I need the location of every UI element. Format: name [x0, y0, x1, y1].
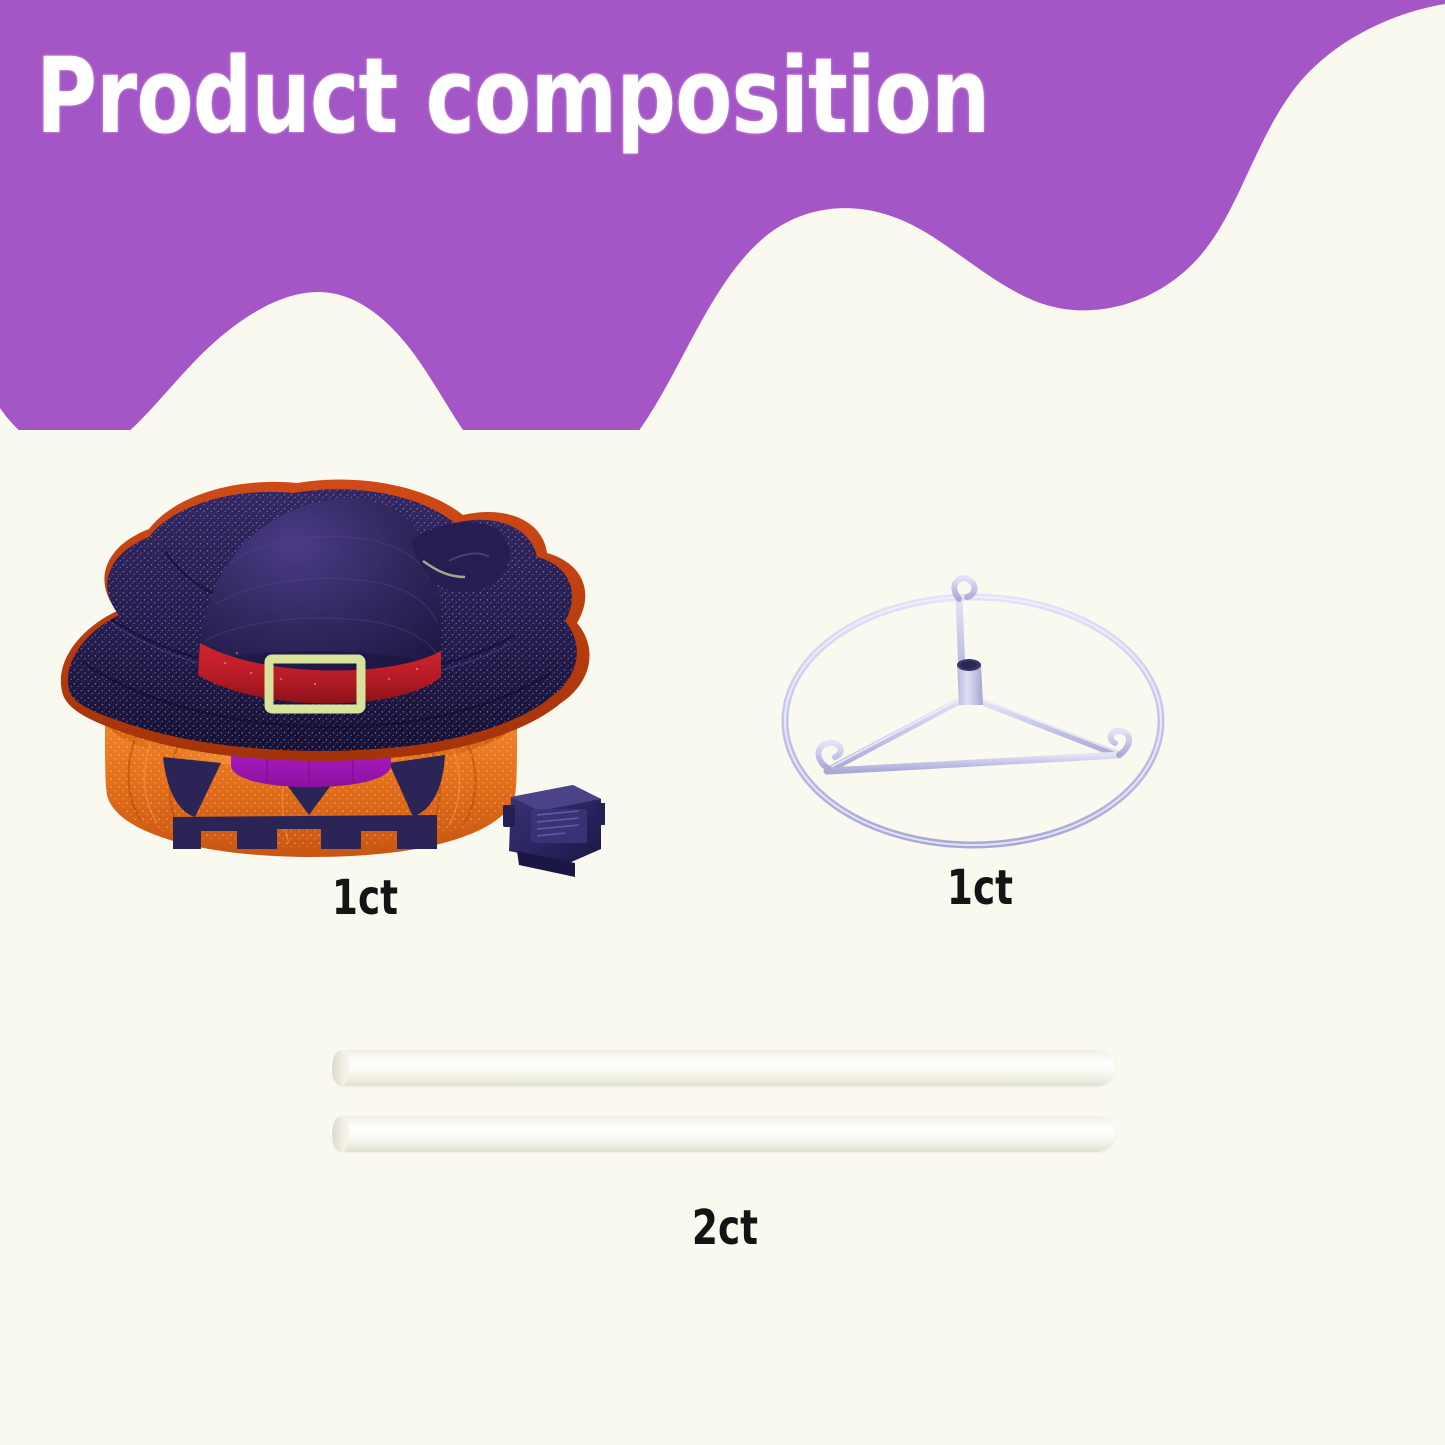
wire-ring-stand-illustration	[775, 555, 1175, 865]
witch-hat-pumpkin-illustration	[45, 465, 605, 885]
count-label-hat: 1ct	[264, 870, 467, 926]
product-item-ring-stand: 1ct	[775, 555, 1175, 865]
support-pole	[330, 1050, 1115, 1086]
product-item-hat-assembly: 1ct	[45, 465, 605, 885]
ring-top-hook	[954, 578, 974, 599]
ring-bottom-bar	[829, 755, 1119, 771]
count-label-ring: 1ct	[879, 860, 1082, 916]
support-pole	[330, 1116, 1115, 1152]
product-composition-page: Product composition	[0, 0, 1445, 1445]
battery-box	[503, 785, 605, 877]
ring-outer	[785, 597, 1161, 845]
count-label-poles: 2ct	[624, 1200, 827, 1256]
page-title: Product composition	[36, 44, 989, 148]
product-item-poles: 2ct	[330, 1050, 1120, 1170]
ring-center-hub	[957, 659, 983, 705]
